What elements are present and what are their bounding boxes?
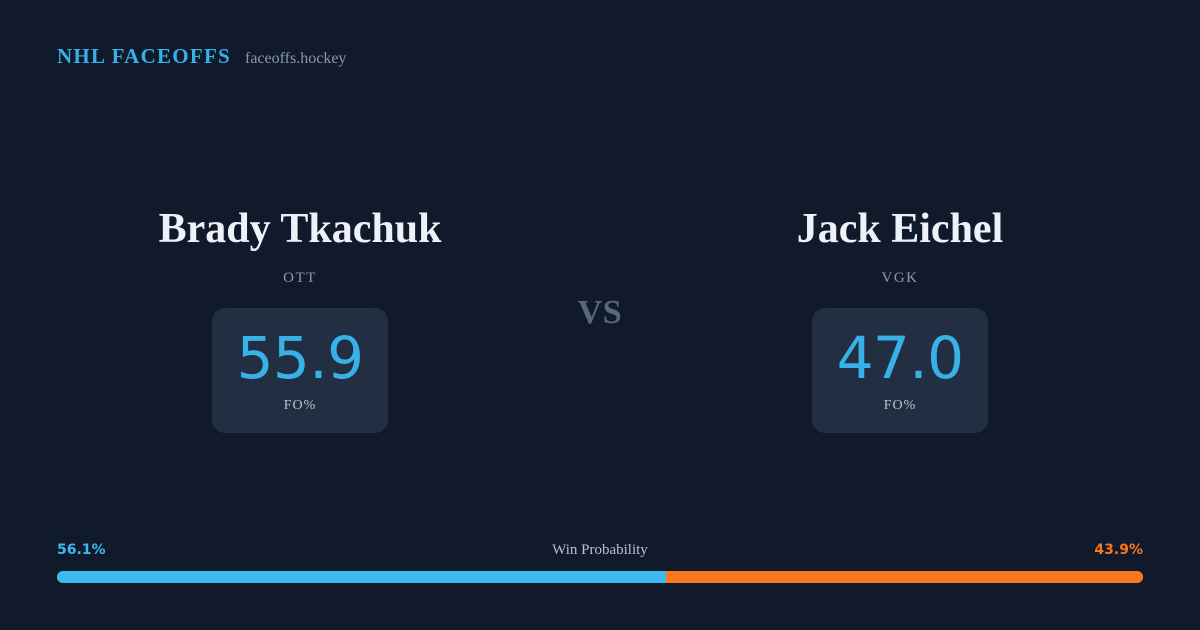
win-probability-labels: 56.1% Win Probability 43.9% [57,540,1143,560]
matchup-section: Brady Tkachuk OTT 55.9 FO% VS Jack Eiche… [0,170,1200,450]
brand-logo-text[interactable]: NHL FACEOFFS [57,46,231,67]
stat-label-left: FO% [284,399,317,413]
player-name-left: Brady Tkachuk [159,208,442,250]
stat-box-right: 47.0 FO% [812,308,988,433]
versus-divider: VS [540,170,660,330]
win-probability-section: 56.1% Win Probability 43.9% [57,540,1143,583]
win-probability-bar [57,571,1143,583]
stat-label-right: FO% [884,399,917,413]
stat-box-left: 55.9 FO% [212,308,388,433]
brand-domain-label: faceoffs.hockey [245,51,346,67]
stat-value-left: 55.9 [237,329,364,387]
win-probability-bar-left-fill [57,571,666,583]
player-team-left: OTT [283,271,317,286]
versus-label: VS [578,296,623,330]
player-card-right: Jack Eichel VGK 47.0 FO% [660,170,1140,433]
faceoff-matchup-card: NHL FACEOFFS faceoffs.hockey Brady Tkach… [0,0,1200,630]
player-team-right: VGK [882,271,919,286]
site-header: NHL FACEOFFS faceoffs.hockey [57,46,346,67]
win-probability-title: Win Probability [57,540,1143,560]
player-name-right: Jack Eichel [797,208,1004,250]
player-card-left: Brady Tkachuk OTT 55.9 FO% [60,170,540,433]
win-probability-right-value: 43.9% [1094,540,1143,560]
stat-value-right: 47.0 [837,329,964,387]
win-probability-bar-right-fill [666,571,1143,583]
